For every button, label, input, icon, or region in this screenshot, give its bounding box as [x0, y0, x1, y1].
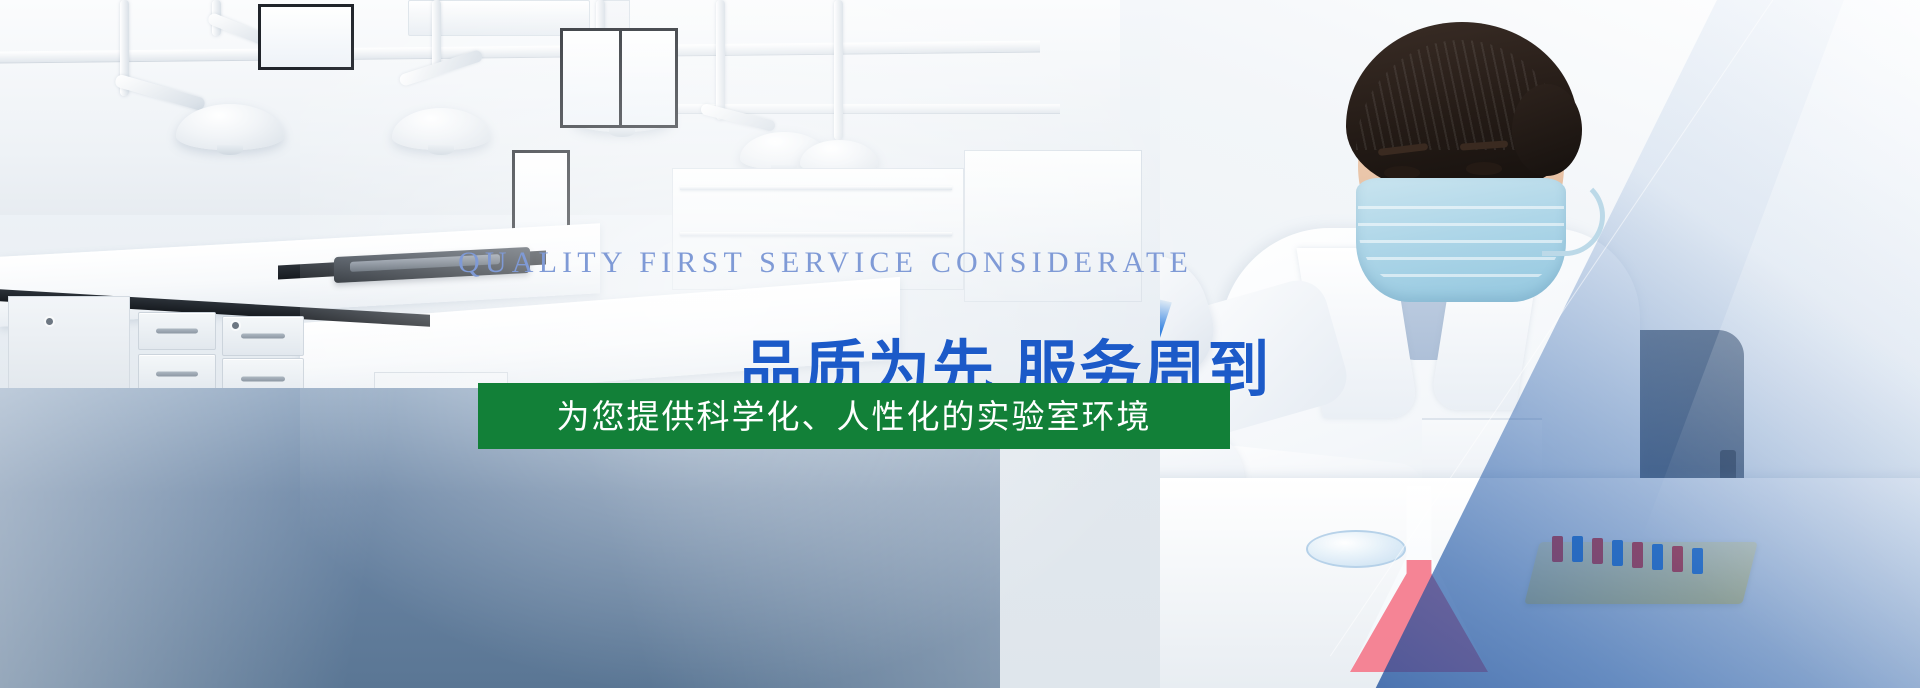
bench-drawer [138, 312, 216, 350]
banner-subtitle-text: 为您提供科学化、人性化的实验室环境 [557, 400, 1152, 433]
banner-eyebrow-english: QUALITY FIRST SERVICE CONSIDERATE [458, 248, 1193, 278]
cabinet-lock [46, 318, 53, 325]
microtube [1672, 546, 1683, 572]
hero-banner: QUALITY FIRST SERVICE CONSIDERATE 品质为先 服… [0, 0, 1920, 688]
extraction-arm-3 [432, 0, 441, 70]
microtube [1612, 540, 1623, 566]
microtube [1652, 544, 1663, 570]
rear-window-center [560, 28, 678, 128]
shelf-rail [680, 186, 952, 190]
hair-bun [1512, 84, 1582, 176]
microtube [1592, 538, 1603, 564]
microtube [1692, 548, 1703, 574]
petri-dish [1306, 530, 1406, 568]
lab-coat-pocket [1422, 418, 1542, 484]
window-mullion [619, 31, 622, 125]
microtube [1572, 536, 1583, 562]
rear-window-left [258, 4, 354, 70]
microtube [1632, 542, 1643, 568]
shelf-rail [680, 232, 952, 236]
cabinet-lock [232, 322, 239, 329]
extraction-arm-5 [716, 0, 725, 120]
eye-right [1466, 162, 1502, 175]
microtube [1552, 536, 1563, 562]
surgical-mask-pleats [1358, 206, 1564, 286]
banner-subtitle-bar: 为您提供科学化、人性化的实验室环境 [478, 383, 1230, 449]
wall-cabinet-right [964, 150, 1142, 302]
technician-scene [1160, 0, 1920, 688]
extraction-arm-6 [834, 0, 843, 140]
